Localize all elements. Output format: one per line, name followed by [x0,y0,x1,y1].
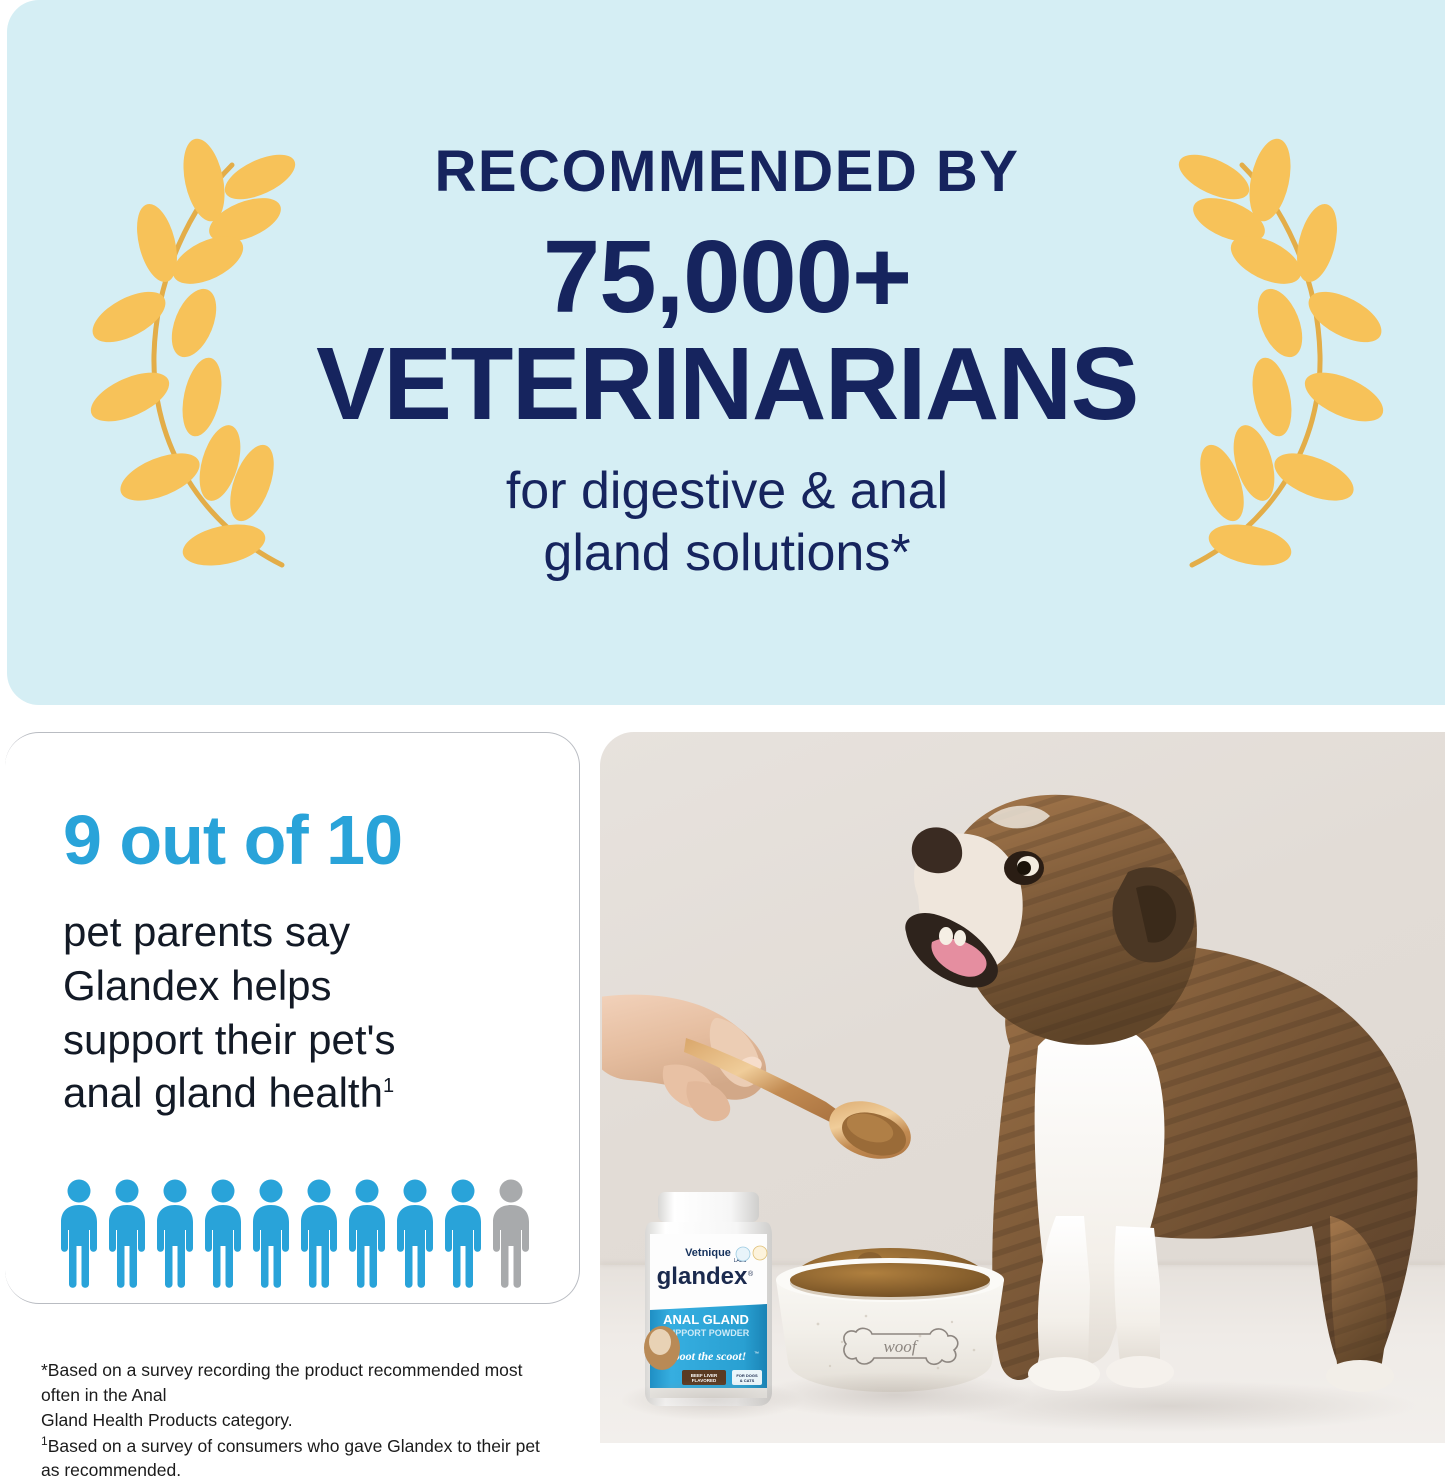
banner-subtitle-line-1: for digestive & anal [297,461,1157,522]
product-lifestyle-photo: Vetnique LABS glandex ® ANAL GLAND SUPPO… [600,732,1445,1443]
person-icon [394,1178,436,1290]
footnote-line-2: Gland Health Products category. [41,1408,541,1433]
stat-body-line-1: pet parents say [63,905,533,959]
banner-text-block: RECOMMENDED BY 75,000+ VETERINARIANS for… [297,125,1157,584]
person-icon [442,1178,484,1290]
vet-audience-label: VETERINARIANS [297,334,1157,435]
svg-text:®: ® [748,1270,754,1278]
svg-text:Vetnique: Vetnique [685,1247,731,1259]
svg-text:boot the scoot!: boot the scoot! [674,1349,747,1363]
svg-text:ANAL GLAND: ANAL GLAND [663,1312,749,1327]
stat-body-text: pet parents say Glandex helps support th… [63,875,533,1120]
stat-body-line-2: Glandex helps [63,959,533,1013]
stat-headline: 9 out of 10 [63,805,579,875]
footnote-3-marker: 1 [41,1434,48,1448]
person-icon [106,1178,148,1290]
laurel-wreath-icon [1142,125,1392,575]
person-icon [202,1178,244,1290]
recommended-by-label: RECOMMENDED BY [297,125,1157,201]
vet-count: 75,000+ [297,201,1157,334]
people-pictogram-row [58,1178,532,1290]
bowl-shadow [760,1372,1030,1418]
svg-text:woof: woof [883,1337,918,1356]
svg-text:glandex: glandex [657,1263,748,1290]
stat-body-line-3: support their pet's [63,1013,533,1067]
footnote-line-1: *Based on a survey recording the product… [41,1358,541,1408]
person-icon [298,1178,340,1290]
person-icon [346,1178,388,1290]
person-icon [154,1178,196,1290]
svg-text:™: ™ [754,1351,759,1357]
person-icon [250,1178,292,1290]
footnote-line-3: 1Based on a survey of consumers who gave… [41,1433,541,1483]
footnote-marker: 1 [383,1075,394,1097]
footnote-line-3-text: Based on a survey of consumers who gave … [41,1435,540,1480]
stat-body-line-4: anal gland health1 [63,1066,533,1120]
banner-subtitle-line-2: gland solutions* [297,523,1157,584]
footnotes-block: *Based on a survey recording the product… [41,1358,541,1483]
hand-holding-spoon-icon [602,994,932,1194]
person-icon [58,1178,100,1290]
recommended-banner: RECOMMENDED BY 75,000+ VETERINARIANS for… [7,0,1445,705]
laurel-wreath-icon [82,125,332,575]
person-icon [490,1178,532,1290]
stat-body-line-4-text: anal gland health [63,1069,383,1116]
